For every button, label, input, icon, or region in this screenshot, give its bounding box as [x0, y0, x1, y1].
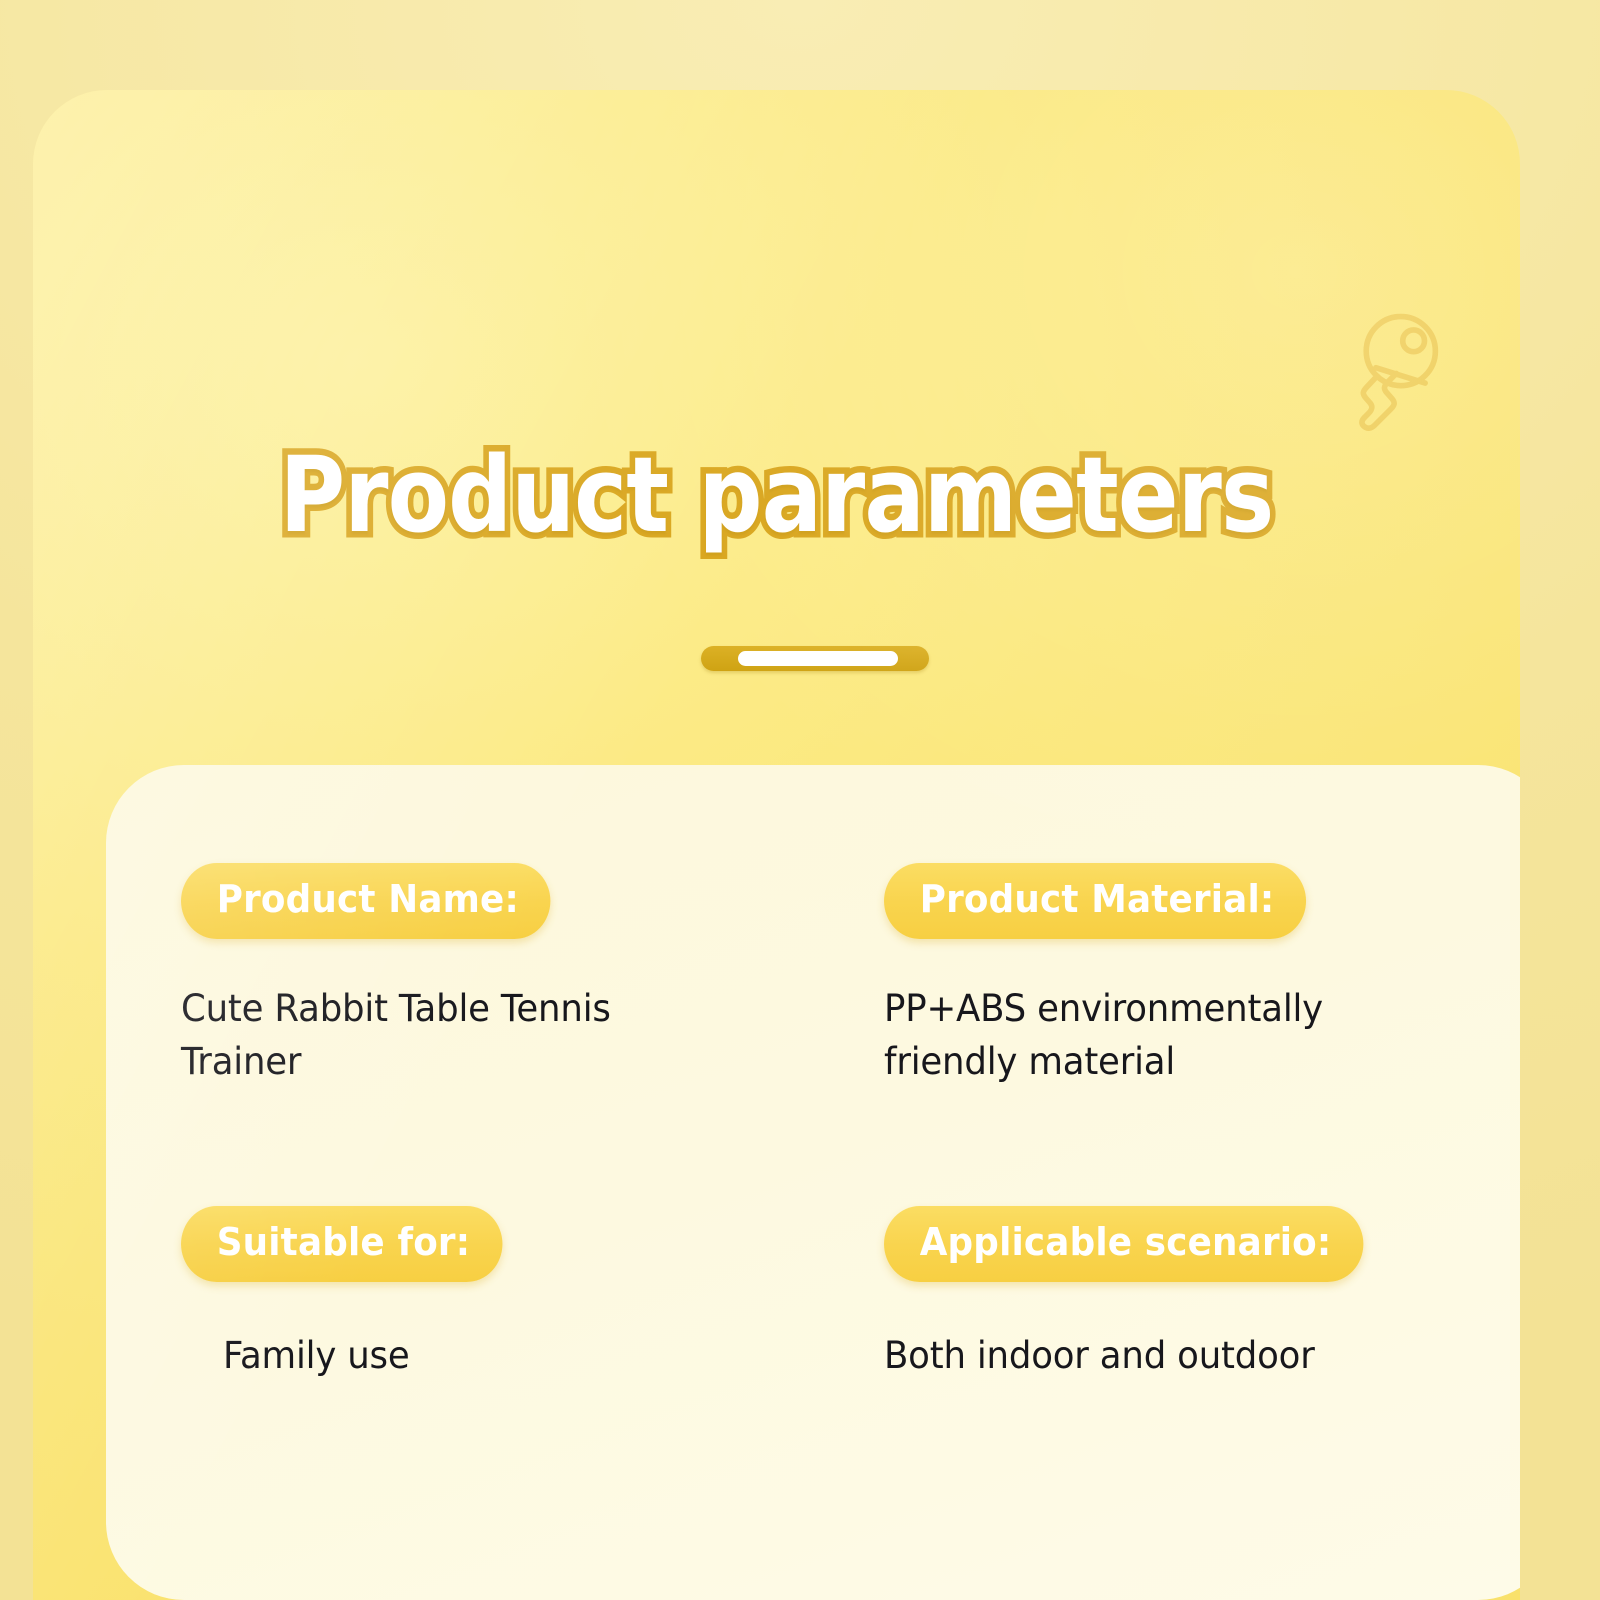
parameter-value-suitable-for: Family use [223, 1330, 761, 1383]
parameter-label-product-material: Product Material: [884, 863, 1306, 939]
parameter-cell-product-material: Product Material: PP+ABS environmentally… [869, 863, 1521, 1190]
table-tennis-paddle-icon [1324, 305, 1452, 433]
parameter-value-applicable-scenario: Both indoor and outdoor [884, 1330, 1479, 1383]
parameters-panel: Product Name: Cute Rabbit Table Tennis T… [106, 765, 1520, 1600]
title-divider-inner [738, 651, 898, 666]
parameter-label-suitable-for: Suitable for: [181, 1206, 502, 1282]
parameter-cell-product-name: Product Name: Cute Rabbit Table Tennis T… [181, 863, 869, 1190]
page-background: Product parameters Product Name: Cute Ra… [0, 0, 1600, 1600]
page-title: Product parameters [137, 442, 1416, 548]
parameters-grid: Product Name: Cute Rabbit Table Tennis T… [106, 765, 1520, 1600]
header-card: Product parameters Product Name: Cute Ra… [33, 90, 1520, 1600]
parameter-label-applicable-scenario: Applicable scenario: [884, 1206, 1363, 1282]
parameter-value-product-material: PP+ABS environmentally friendly material [884, 983, 1460, 1088]
parameter-cell-applicable-scenario: Applicable scenario: Both indoor and out… [869, 1190, 1521, 1517]
title-divider [701, 646, 929, 671]
parameter-label-product-name: Product Name: [181, 863, 551, 939]
parameter-value-product-name: Cute Rabbit Table Tennis Trainer [181, 983, 719, 1088]
parameter-cell-suitable-for: Suitable for: Family use [181, 1190, 869, 1517]
